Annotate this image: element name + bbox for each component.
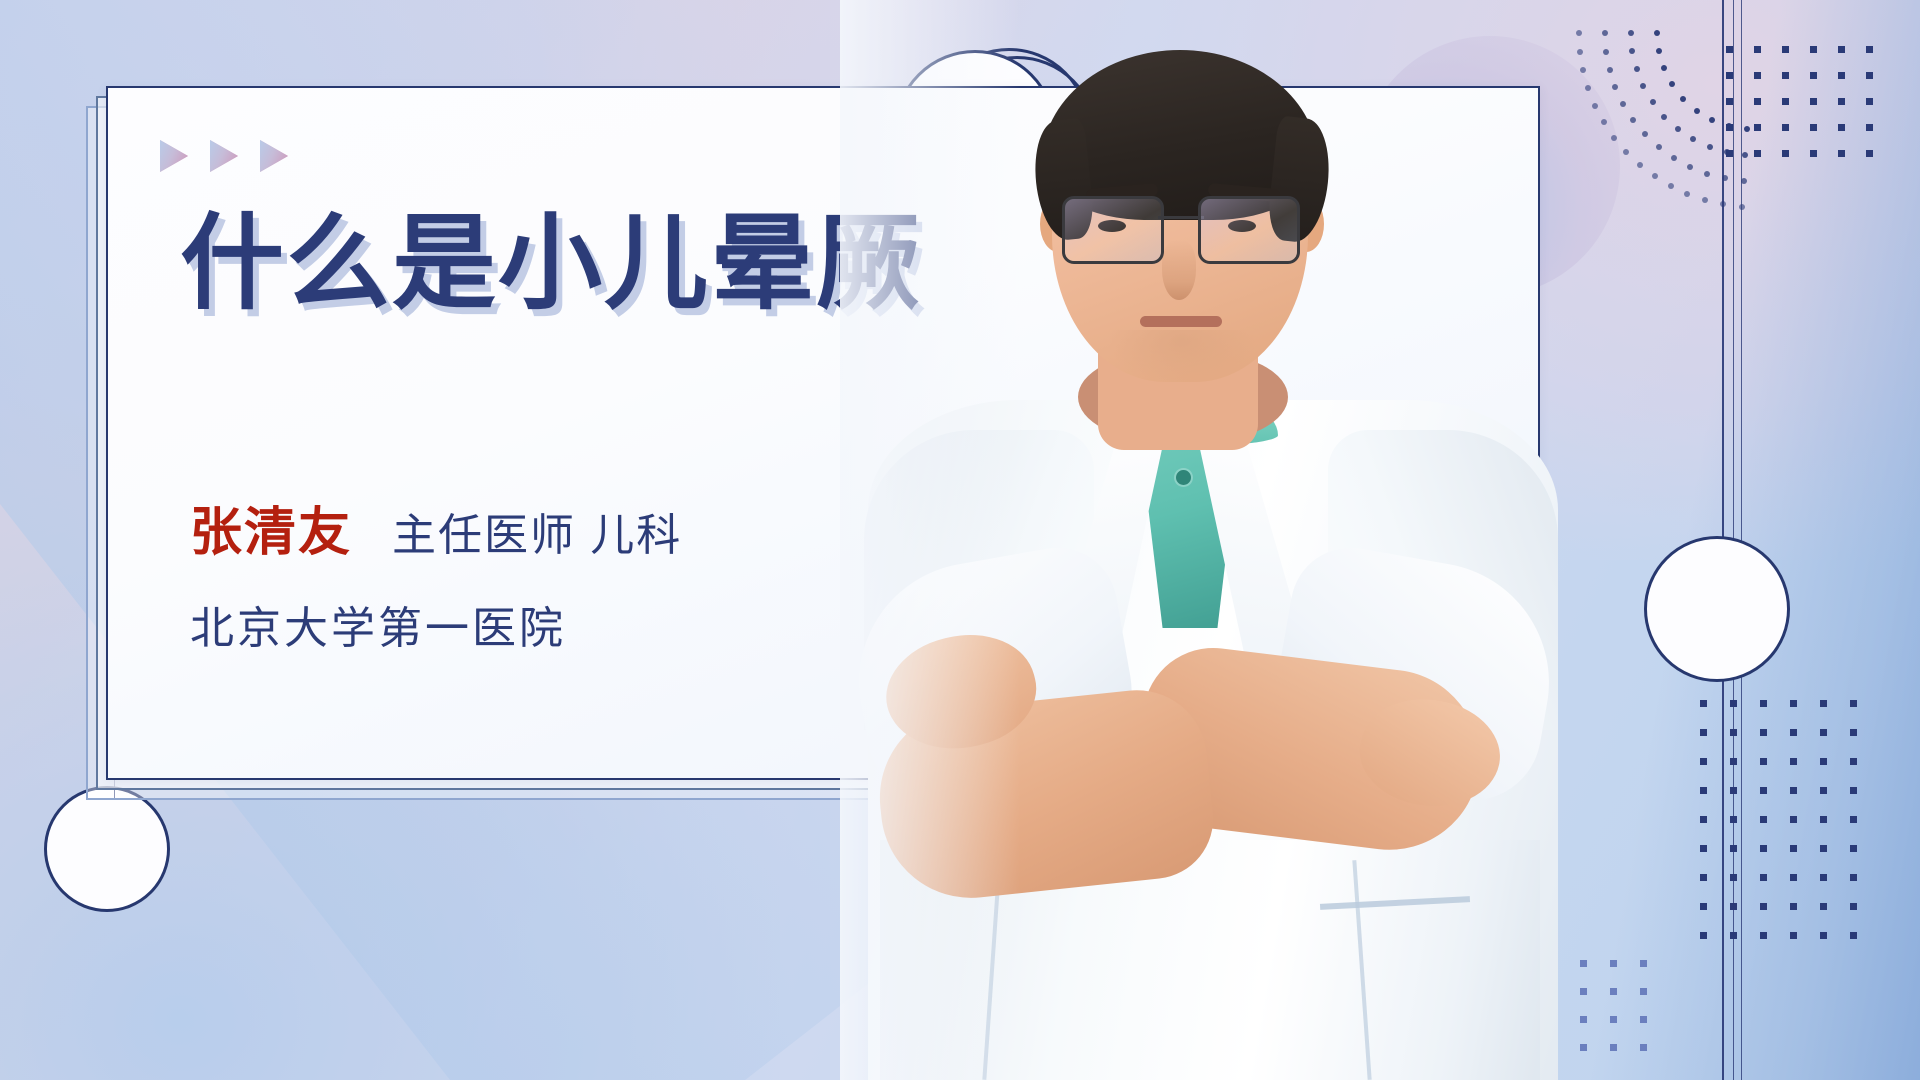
grid-dot: [1760, 758, 1767, 765]
grid-dot: [1866, 150, 1873, 157]
grid-dot: [1850, 700, 1857, 707]
grid-dot: [1760, 932, 1767, 939]
grid-dot: [1760, 903, 1767, 910]
doctor-name: 张清友: [190, 490, 352, 565]
grid-dot: [1700, 729, 1707, 736]
doctor-portrait: [840, 0, 1580, 1080]
grid-dot: [1850, 903, 1857, 910]
arc-dot: [1656, 144, 1662, 150]
grid-dot: [1700, 874, 1707, 881]
grid-dot: [1820, 903, 1827, 910]
doctor-credentials: 张清友 主任医师 儿科: [190, 490, 682, 565]
arc-dot: [1612, 84, 1618, 90]
arc-dot: [1690, 136, 1696, 142]
grid-dot: [1700, 758, 1707, 765]
grid-dot: [1790, 758, 1797, 765]
grid-dot: [1580, 988, 1587, 995]
arc-dot: [1739, 204, 1745, 210]
grid-dot: [1580, 1016, 1587, 1023]
arc-dot: [1684, 191, 1690, 197]
grid-dot: [1866, 46, 1873, 53]
arc-dot: [1675, 126, 1681, 132]
grid-dot: [1754, 46, 1761, 53]
grid-dot: [1610, 1016, 1617, 1023]
arc-dot: [1640, 83, 1646, 89]
grid-dot: [1700, 903, 1707, 910]
arc-dot: [1634, 66, 1640, 72]
grid-dot: [1754, 98, 1761, 105]
grid-dot: [1760, 874, 1767, 881]
grid-dot: [1866, 124, 1873, 131]
arc-dot: [1601, 119, 1607, 125]
grid-dot: [1610, 960, 1617, 967]
doctor-hospital: 北京大学第一医院: [190, 592, 566, 656]
arc-dot: [1642, 131, 1648, 137]
arc-dot: [1623, 149, 1629, 155]
scrub-button: [1176, 470, 1191, 485]
grid-dot: [1810, 98, 1817, 105]
grid-dot: [1820, 758, 1827, 765]
grid-dot: [1760, 729, 1767, 736]
grid-dot: [1782, 150, 1789, 157]
grid-dot: [1610, 988, 1617, 995]
grid-dot: [1838, 150, 1845, 157]
grid-dot: [1850, 787, 1857, 794]
arc-dot: [1704, 171, 1710, 177]
chevron-right-icon-1: [160, 140, 188, 172]
grid-dot: [1820, 729, 1827, 736]
arc-dot: [1611, 135, 1617, 141]
triple-chevron-right-icon: [160, 140, 288, 172]
grid-dot: [1810, 46, 1817, 53]
grid-dot: [1810, 150, 1817, 157]
arc-dot: [1680, 96, 1686, 102]
square-dot-grid-right: [1700, 700, 1890, 960]
grid-dot: [1700, 932, 1707, 939]
grid-dot: [1754, 72, 1761, 79]
grid-dot: [1838, 46, 1845, 53]
eyeglass-lens-left: [1062, 196, 1164, 264]
grid-dot: [1810, 124, 1817, 131]
arc-dot: [1661, 65, 1667, 71]
slide-canvas: 什么是小儿晕厥 张清友 主任医师 儿科 北京大学第一医院: [0, 0, 1920, 1080]
arc-dot: [1637, 162, 1643, 168]
arc-dot: [1707, 144, 1713, 150]
arc-dot: [1628, 30, 1634, 36]
arc-dot: [1669, 81, 1675, 87]
grid-dot: [1790, 903, 1797, 910]
grid-dot: [1610, 1044, 1617, 1051]
grid-dot: [1700, 700, 1707, 707]
grid-dot: [1760, 787, 1767, 794]
grid-dot: [1790, 700, 1797, 707]
chevron-right-icon-3: [260, 140, 288, 172]
arc-dot: [1629, 48, 1635, 54]
grid-dot: [1850, 758, 1857, 765]
arc-dot: [1668, 183, 1674, 189]
grid-dot: [1838, 98, 1845, 105]
grid-dot: [1838, 72, 1845, 79]
grid-dot: [1726, 72, 1733, 79]
grid-dot: [1820, 932, 1827, 939]
grid-dot: [1790, 816, 1797, 823]
grid-dot: [1700, 845, 1707, 852]
grid-dot: [1820, 845, 1827, 852]
chevron-right-icon-2: [210, 140, 238, 172]
grid-dot: [1820, 787, 1827, 794]
chin-shading: [1108, 330, 1256, 386]
grid-dot: [1866, 98, 1873, 105]
grid-dot: [1754, 124, 1761, 131]
grid-dot: [1754, 150, 1761, 157]
eyeglass-lens-right: [1198, 196, 1300, 264]
grid-dot: [1810, 72, 1817, 79]
grid-dot: [1640, 1016, 1647, 1023]
arc-dot: [1580, 67, 1586, 73]
grid-dot: [1782, 124, 1789, 131]
arc-dot: [1661, 114, 1667, 120]
decorative-ring-bottom-left: [44, 786, 170, 912]
grid-dot: [1820, 700, 1827, 707]
grid-dot: [1790, 845, 1797, 852]
arc-dot: [1620, 101, 1626, 107]
grid-dot: [1782, 46, 1789, 53]
grid-dot: [1850, 816, 1857, 823]
grid-dot: [1790, 729, 1797, 736]
decorative-ring-right: [1644, 536, 1790, 682]
grid-dot: [1820, 816, 1827, 823]
grid-dot: [1790, 874, 1797, 881]
grid-dot: [1580, 960, 1587, 967]
doctor-role-department: 主任医师 儿科: [392, 499, 682, 563]
grid-dot: [1726, 124, 1733, 131]
arc-dot: [1585, 85, 1591, 91]
grid-dot: [1790, 932, 1797, 939]
grid-dot: [1782, 98, 1789, 105]
arc-dot: [1671, 155, 1677, 161]
grid-dot: [1760, 700, 1767, 707]
portrait-edge-fade: [840, 0, 1020, 1080]
arc-dot: [1656, 48, 1662, 54]
arc-dot: [1630, 117, 1636, 123]
arc-dot: [1603, 49, 1609, 55]
grid-dot: [1850, 729, 1857, 736]
grid-dot: [1700, 816, 1707, 823]
grid-dot: [1726, 150, 1733, 157]
arc-dot: [1702, 197, 1708, 203]
grid-dot: [1782, 72, 1789, 79]
arc-dot: [1687, 164, 1693, 170]
page-title: 什么是小儿晕厥: [180, 206, 922, 322]
mouth: [1140, 316, 1222, 327]
nose: [1162, 240, 1196, 300]
grid-dot: [1640, 988, 1647, 995]
arc-dot: [1694, 108, 1700, 114]
arc-dot: [1650, 99, 1656, 105]
grid-dot: [1640, 960, 1647, 967]
arc-dot: [1652, 173, 1658, 179]
grid-dot: [1640, 1044, 1647, 1051]
grid-dot: [1760, 816, 1767, 823]
grid-dot: [1700, 787, 1707, 794]
grid-dot: [1850, 932, 1857, 939]
grid-dot: [1760, 845, 1767, 852]
grid-dot: [1820, 874, 1827, 881]
grid-dot: [1866, 72, 1873, 79]
square-dot-grid-top-right: [1726, 46, 1896, 176]
grid-dot: [1838, 124, 1845, 131]
grid-dot: [1726, 98, 1733, 105]
grid-dot: [1850, 874, 1857, 881]
arc-dot: [1607, 67, 1613, 73]
grid-dot: [1726, 46, 1733, 53]
grid-dot: [1580, 1044, 1587, 1051]
arc-dot: [1709, 117, 1715, 123]
arc-dot: [1654, 30, 1660, 36]
arc-dot: [1592, 103, 1598, 109]
arc-dot: [1602, 30, 1608, 36]
grid-dot: [1790, 787, 1797, 794]
grid-dot: [1850, 845, 1857, 852]
